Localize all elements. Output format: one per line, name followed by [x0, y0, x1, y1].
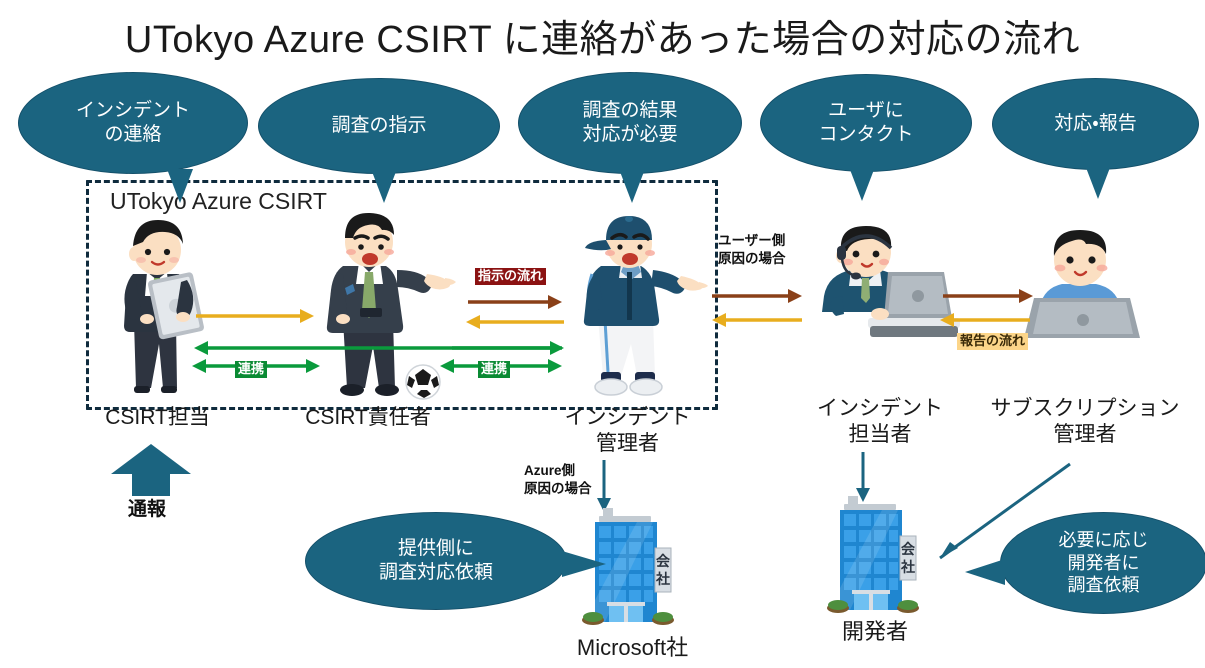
svg-text:社: 社 [900, 559, 915, 576]
label-subscription-admin: サブスクリプション 管理者 [965, 396, 1205, 449]
bubble-tail-icon [562, 551, 606, 577]
arrow-admin-to-handler-yellow [938, 312, 1030, 328]
label-incident-handler: インシデント 担当者 [790, 396, 970, 449]
bubble-user-contact[interactable]: ユーザに コンタクト [760, 74, 972, 172]
tag-instruction-flow: 指示の流れ [475, 268, 546, 285]
arrow-handler-to-developer [855, 452, 871, 502]
bubble-ask-provider-text: 提供側に 調査対応依頼 [373, 537, 499, 585]
svg-text:会: 会 [901, 541, 916, 558]
person-incident-handler-illustration [796, 226, 961, 346]
person-incident-owner-illustration [565, 214, 710, 402]
arrow-notification-up [110, 444, 192, 496]
page-title: UTokyo Azure CSIRT に連絡があった場合の対応の流れ [0, 8, 1205, 63]
bubble-ask-developer-text: 必要に応じ 開発者に 調査依頼 [1053, 529, 1155, 597]
svg-text:社: 社 [655, 571, 670, 588]
label-csirt-staff: CSIRT担当 [85, 405, 230, 431]
note-azure-side-cause: Azure側 原因の場合 [524, 462, 592, 497]
label-microsoft: Microsoft社 [545, 634, 720, 662]
bubble-tail-icon [965, 559, 1005, 585]
bubble-investigation-order[interactable]: 調査の指示 [258, 78, 500, 174]
label-incident-owner: インシデント 管理者 [540, 405, 715, 458]
bubble-investigation-order-text: 調査の指示 [325, 114, 432, 138]
building-developer-illustration: 会 社 [820, 496, 930, 618]
arrow-staff-to-manager-yellow [196, 308, 316, 324]
bubble-tail-icon [849, 167, 875, 201]
tag-report-flow: 報告の流れ [957, 333, 1028, 350]
bubble-tail-icon [1085, 165, 1111, 199]
tag-cooperation-right: 連携 [478, 361, 510, 378]
arrow-owner-to-manager-yellow [464, 314, 564, 330]
bubble-incident-report[interactable]: インシデント の連絡 [18, 72, 248, 174]
bubble-investigation-result-text: 調査の結果 対応が必要 [576, 99, 683, 147]
bubble-investigation-result[interactable]: 調査の結果 対応が必要 [518, 72, 742, 174]
arrow-handler-to-admin-brown [943, 288, 1033, 304]
bubble-response-report-text: 対応・報告 [1048, 112, 1142, 136]
bubble-ask-developer[interactable]: 必要に応じ 開発者に 調査依頼 [1000, 512, 1205, 614]
bubble-incident-report-text: インシデント の連絡 [70, 99, 196, 147]
bubble-tail-icon [371, 169, 397, 203]
arrow-handler-to-owner-yellow [710, 312, 802, 328]
arrow-owner-to-microsoft [596, 460, 612, 512]
note-user-side-cause: ユーザー側 原因の場合 [718, 232, 786, 267]
tag-cooperation-left: 連携 [235, 361, 267, 378]
person-subscription-admin-illustration [1016, 228, 1156, 348]
label-csirt-manager: CSIRT責任者 [288, 405, 448, 431]
arrow-owner-to-staff-green-long [452, 340, 564, 356]
arrow-manager-to-owner-brown [468, 294, 564, 310]
bubble-tail-icon [619, 169, 645, 203]
bubble-ask-provider[interactable]: 提供側に 調査対応依頼 [305, 512, 567, 610]
bubble-tail-icon [167, 169, 193, 203]
csirt-group-box-label: UTokyo Azure CSIRT [110, 188, 327, 215]
bubble-user-contact-text: ユーザに コンタクト [812, 99, 919, 147]
arrow-owner-to-handler-brown [712, 288, 802, 304]
note-notification: 通報 [128, 494, 166, 521]
bubble-response-report[interactable]: 対応・報告 [992, 78, 1199, 170]
svg-text:会: 会 [656, 553, 671, 570]
label-developer: 開発者 [805, 618, 945, 646]
